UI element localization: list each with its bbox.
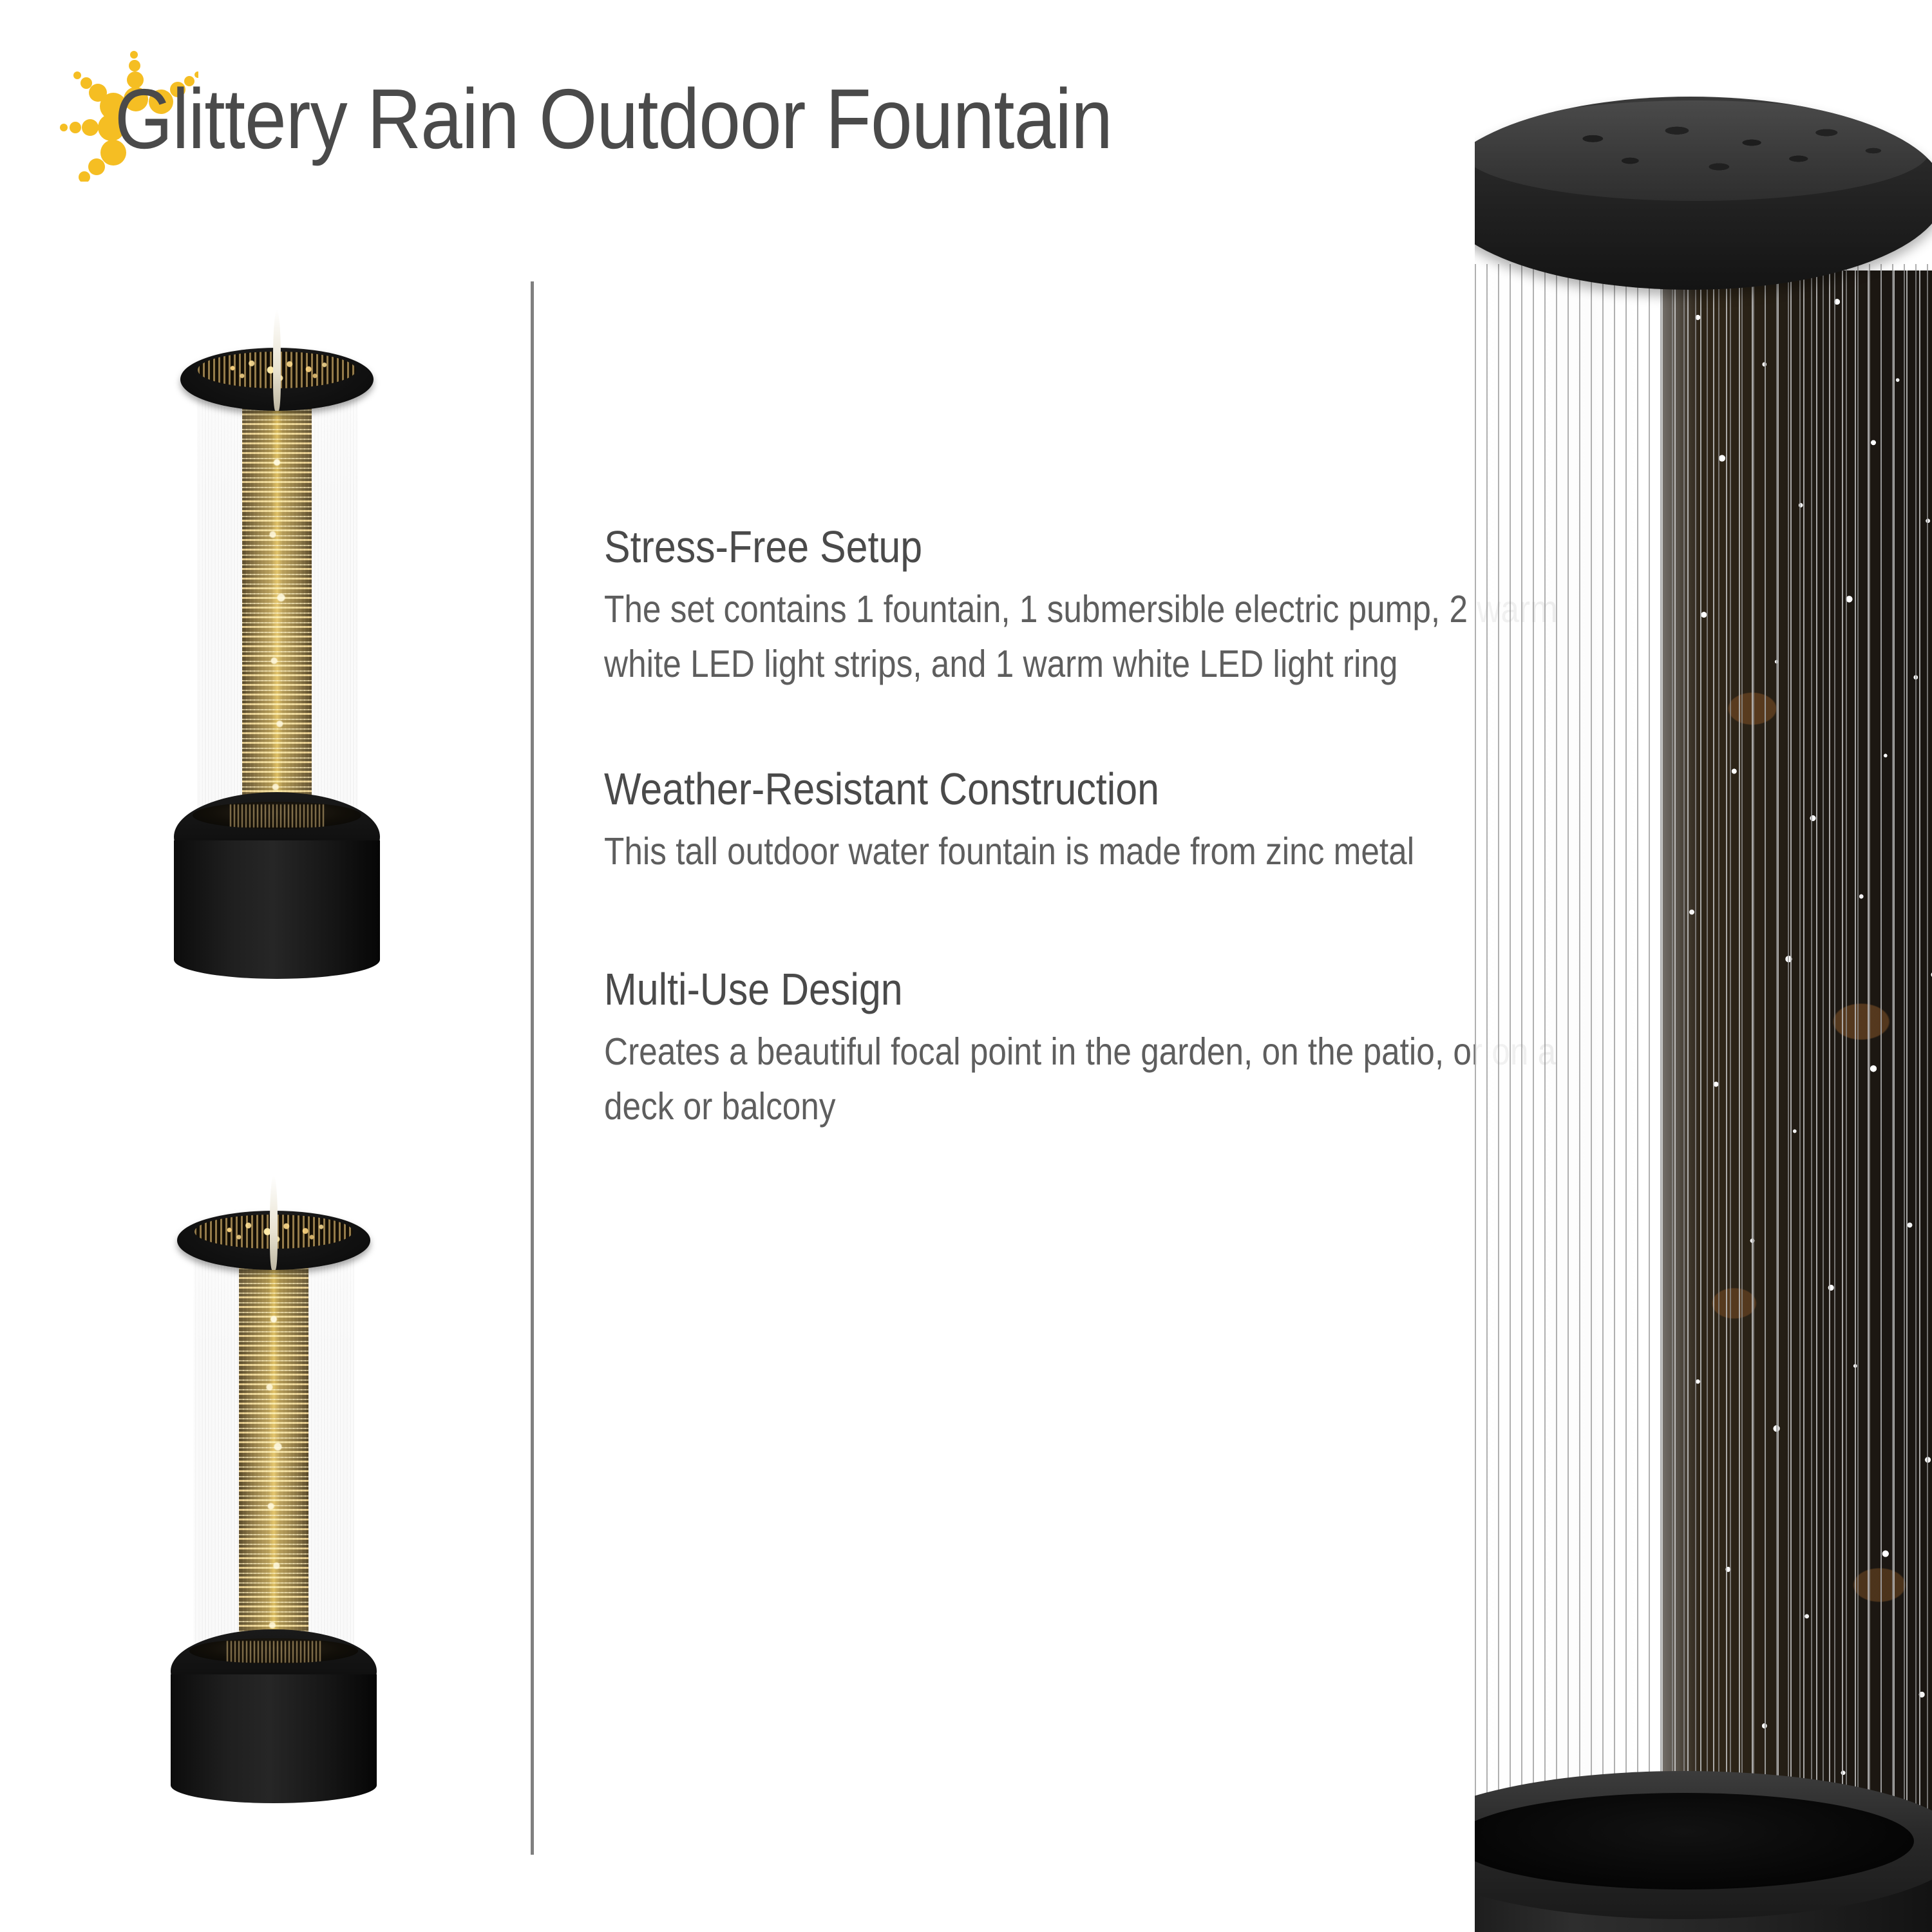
closeup-basin-well [1475, 1793, 1914, 1889]
feature-body: The set contains 1 fountain, 1 submersib… [604, 582, 1579, 692]
closeup-cap-engraving-pattern [1475, 100, 1929, 201]
page-header: Glittery Rain Outdoor Fountain [0, 0, 1546, 213]
closeup-cap-top-surface [1475, 100, 1929, 201]
fountain-basin-well [189, 1638, 358, 1663]
closeup-basin [1475, 1771, 1932, 1932]
fountain-nozzle-icon [273, 310, 281, 411]
fountain-filigree-light-column [242, 399, 312, 850]
fountain-basin [174, 792, 380, 979]
fountain-filigree-light-column [239, 1260, 309, 1685]
product-image-fountain-bottom [171, 1211, 377, 1803]
fountain-illustration [174, 348, 380, 979]
feature-body: This tall outdoor water fountain is made… [604, 824, 1579, 879]
product-image-fountain-closeup [1475, 97, 1932, 1932]
page-title: Glittery Rain Outdoor Fountain [115, 71, 1112, 167]
closeup-water-curtain [1475, 264, 1932, 1835]
fountain-illustration [171, 1211, 377, 1803]
feature-block-weather-resistant-construction: Weather-Resistant Construction This tall… [604, 761, 1583, 879]
fountain-basin-well [193, 802, 361, 829]
feature-block-multi-use-design: Multi-Use Design Creates a beautiful foc… [604, 961, 1583, 1134]
product-image-fountain-top [174, 348, 380, 979]
feature-list: Stress-Free Setup The set contains 1 fou… [604, 519, 1583, 1193]
feature-heading: Weather-Resistant Construction [604, 761, 1455, 817]
closeup-top-cap [1475, 97, 1932, 290]
fountain-basin-body [171, 1674, 377, 1803]
feature-heading: Stress-Free Setup [604, 519, 1455, 574]
vertical-divider [531, 281, 534, 1855]
feature-heading: Multi-Use Design [604, 961, 1455, 1017]
fountain-nozzle-icon [270, 1175, 278, 1270]
feature-body: Creates a beautiful focal point in the g… [604, 1025, 1579, 1134]
fountain-basin-glow [227, 1641, 321, 1662]
fountain-basin-glow [230, 804, 325, 828]
fountain-basin [171, 1629, 377, 1803]
fountain-basin-body [174, 840, 380, 979]
closeup-basin-rim [1475, 1771, 1932, 1919]
feature-block-stress-free-setup: Stress-Free Setup The set contains 1 fou… [604, 519, 1583, 692]
